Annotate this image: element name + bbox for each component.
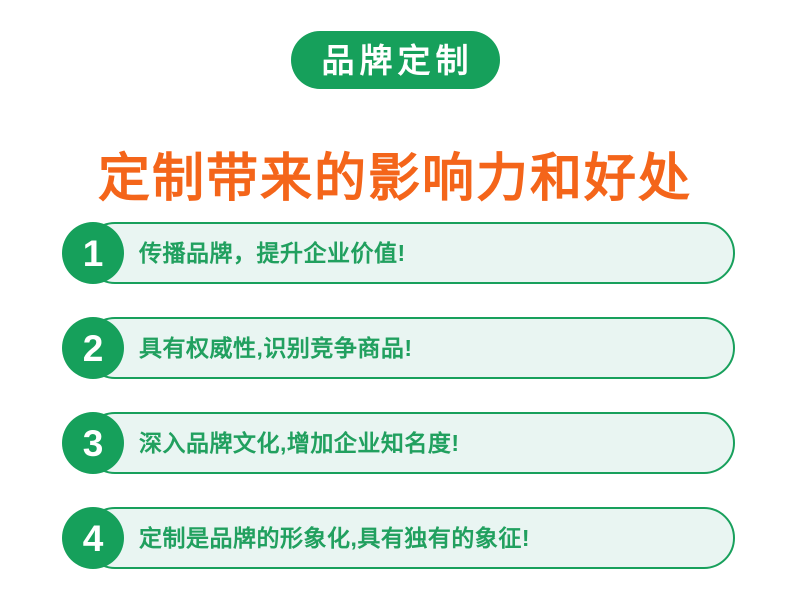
benefit-text: 定制是品牌的形象化,具有独有的象征! [139, 527, 530, 550]
benefit-list: 传播品牌，提升企业价值! 1 具有权威性,识别竞争商品! 2 深入品牌文化,增加… [0, 222, 790, 569]
benefit-text: 传播品牌，提升企业价值! [139, 242, 406, 265]
benefit-text: 深入品牌文化,增加企业知名度! [139, 432, 460, 455]
benefit-pill: 具有权威性,识别竞争商品! [84, 317, 735, 379]
benefit-pill: 传播品牌，提升企业价值! [84, 222, 735, 284]
benefit-pill: 定制是品牌的形象化,具有独有的象征! [84, 507, 735, 569]
page-title: 定制带来的影响力和好处 [0, 147, 790, 212]
benefit-number-badge: 1 [62, 222, 124, 284]
list-item: 传播品牌，提升企业价值! 1 [0, 222, 790, 284]
benefit-number-badge: 2 [62, 317, 124, 379]
benefit-number-badge: 4 [62, 507, 124, 569]
list-item: 具有权威性,识别竞争商品! 2 [0, 317, 790, 379]
benefit-text: 具有权威性,识别竞争商品! [139, 337, 413, 360]
benefit-number-badge: 3 [62, 412, 124, 474]
promo-poster: 品牌定制 定制带来的影响力和好处 传播品牌，提升企业价值! 1 具有权威性,识别… [0, 0, 790, 600]
brand-tag-row: 品牌定制 [0, 31, 790, 89]
list-item: 定制是品牌的形象化,具有独有的象征! 4 [0, 507, 790, 569]
list-item: 深入品牌文化,增加企业知名度! 3 [0, 412, 790, 474]
brand-tag: 品牌定制 [291, 31, 500, 89]
benefit-pill: 深入品牌文化,增加企业知名度! [84, 412, 735, 474]
